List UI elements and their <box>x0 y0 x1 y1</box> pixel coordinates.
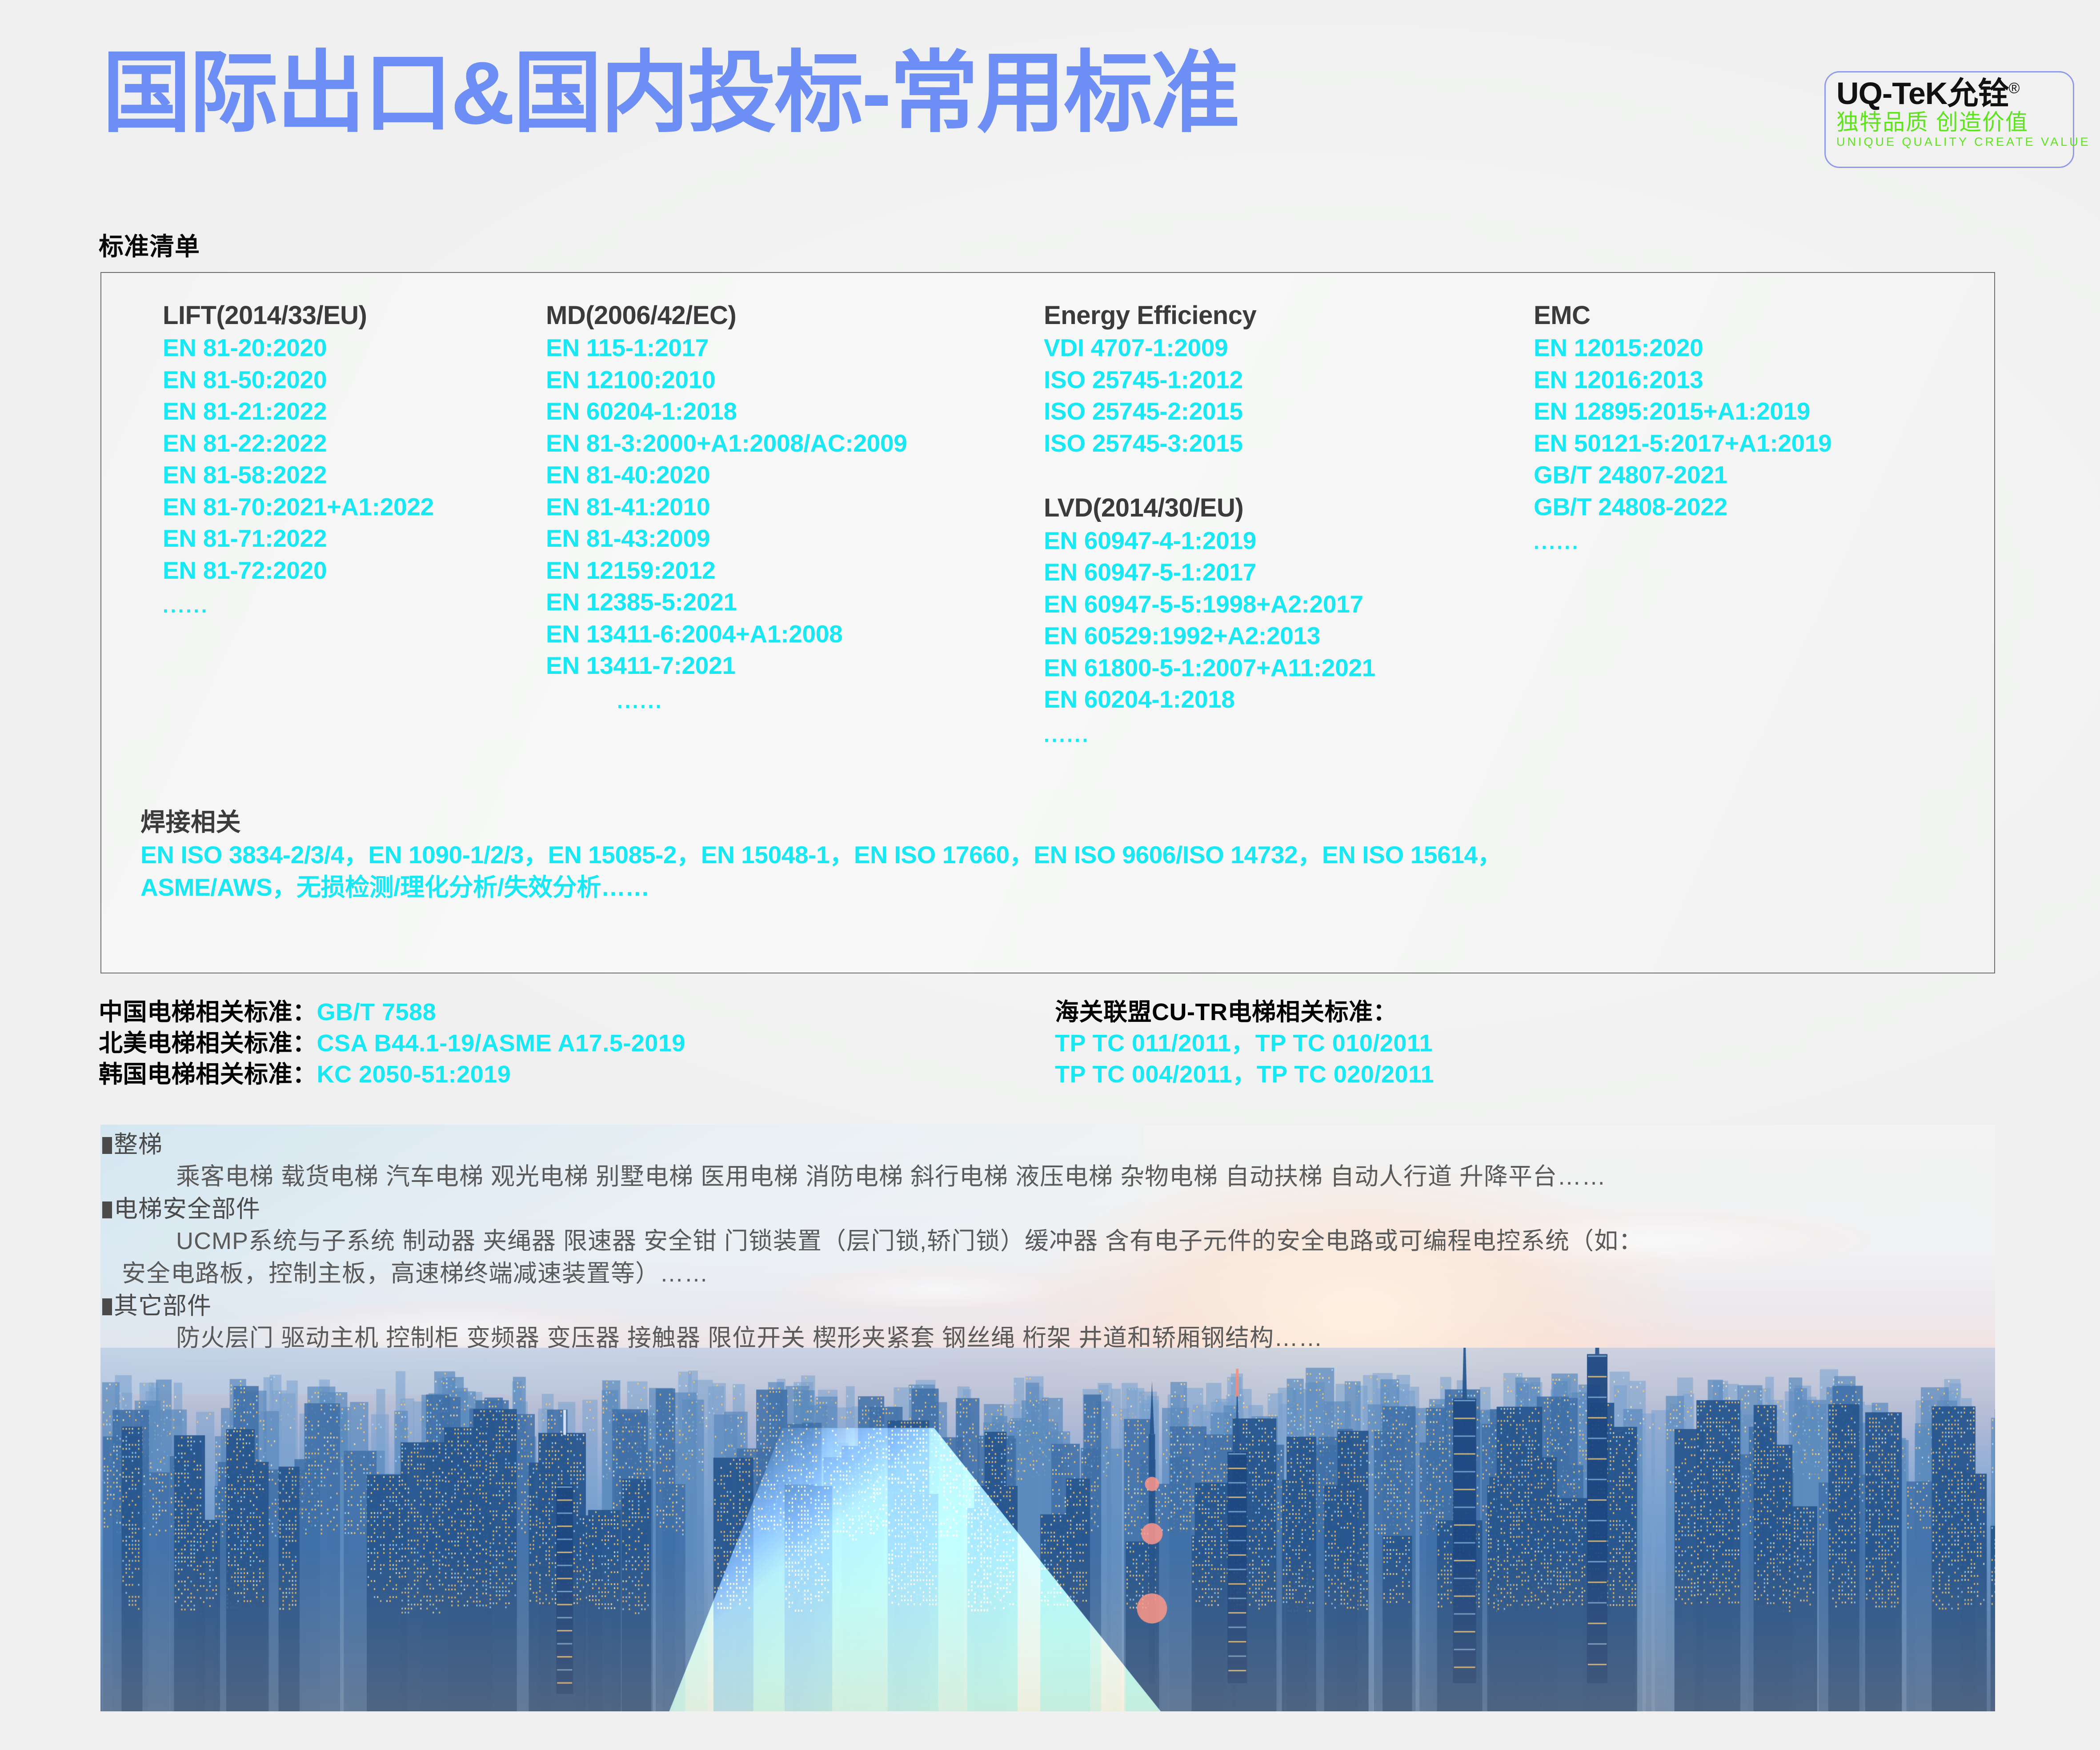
welding-heading: 焊接相关 <box>140 806 1963 839</box>
category-heading-lvd: LVD(2014/30/EU) <box>1044 491 1375 525</box>
category-heading-emc: EMC <box>1534 299 1831 332</box>
standards-column-md: MD(2006/42/EC) EN 115-1:2017 EN 12100:20… <box>546 299 907 720</box>
cu-tr-value-row: TP TC 004/2011，TP TC 020/2011 <box>1055 1059 1434 1090</box>
more-indicator: ······ <box>163 598 434 625</box>
standard-item: EN 12385-5:2021 <box>546 586 907 618</box>
standard-item: EN 12015:2020 <box>1534 332 1831 364</box>
logo-slogan-cn: 独特品质 创造价值 <box>1836 110 2064 136</box>
bullet-content: UCMP系统与子系统 制动器 夹绳器 限速器 安全钳 门锁装置（层门锁,轿门锁）… <box>100 1225 1995 1257</box>
standard-item: ISO 25745-1:2012 <box>1044 364 1375 396</box>
company-logo: UQ-TeK允铨® 独特品质 创造价值 UNIQUE QUALITY CREAT… <box>1824 71 2074 168</box>
more-indicator: ······ <box>1044 727 1375 754</box>
cu-tr-label-row: 海关联盟CU-TR电梯相关标准： <box>1055 997 1434 1028</box>
category-heading-lift: LIFT(2014/33/EU) <box>163 299 434 332</box>
standards-column-lift: LIFT(2014/33/EU) EN 81-20:2020 EN 81-50:… <box>163 299 434 625</box>
standard-item: EN 13411-7:2021 <box>546 650 907 682</box>
country-standard-value: KC 2050-51:2019 <box>317 1061 511 1088</box>
standard-item: EN 81-50:2020 <box>163 364 434 396</box>
standard-item: EN 12016:2013 <box>1534 364 1831 396</box>
standard-item: EN 60204-1:2018 <box>546 396 907 428</box>
country-standard-label: 中国电梯相关标准： <box>99 999 317 1025</box>
component-categories: 整梯 乘客电梯 载货电梯 汽车电梯 观光电梯 别墅电梯 医用电梯 消防电梯 斜行… <box>100 1125 1995 1355</box>
standard-item: EN 115-1:2017 <box>546 332 907 364</box>
standard-item: EN 60529:1992+A2:2013 <box>1044 620 1375 652</box>
bullet-heading-text: 电梯安全部件 <box>114 1196 260 1222</box>
country-standard-row: 韩国电梯相关标准：KC 2050-51:2019 <box>99 1059 685 1090</box>
standard-item: EN 81-43:2009 <box>546 523 907 555</box>
country-standard-row: 中国电梯相关标准：GB/T 7588 <box>99 997 685 1028</box>
logo-slogan-en: UNIQUE QUALITY CREATE VALUE <box>1836 136 2064 149</box>
standard-item: EN 60947-4-1:2019 <box>1044 525 1375 557</box>
country-standard-value: GB/T 7588 <box>317 999 437 1025</box>
standard-item: EN 12100:2010 <box>546 364 907 396</box>
standard-item: EN 61800-5-1:2007+A11:2021 <box>1044 652 1375 684</box>
standard-item: EN 81-72:2020 <box>163 555 434 587</box>
standards-column-emc: EMC EN 12015:2020 EN 12016:2013 EN 12895… <box>1534 299 1831 561</box>
standard-item: EN 60947-5-1:2017 <box>1044 557 1375 589</box>
standard-item: EN 81-41:2010 <box>546 491 907 523</box>
page-title: 国际出口&国内投标-常用标准 <box>102 47 1238 140</box>
city-canvas <box>100 1348 1995 1711</box>
standard-item: EN 13411-6:2004+A1:2008 <box>546 618 907 650</box>
standard-item: EN 81-3:2000+A1:2008/AC:2009 <box>546 428 907 460</box>
standard-item: VDI 4707-1:2009 <box>1044 332 1375 364</box>
country-standards-left: 中国电梯相关标准：GB/T 7588 北美电梯相关标准：CSA B44.1-19… <box>99 997 685 1090</box>
country-standard-label: 韩国电梯相关标准： <box>99 1061 317 1088</box>
standard-item: EN 81-70:2021+A1:2022 <box>163 491 434 523</box>
category-heading-md: MD(2006/42/EC) <box>546 299 907 332</box>
cu-tr-value: TP TC 004/2011，TP TC 020/2011 <box>1055 1061 1434 1088</box>
standards-column-energy-lvd: Energy Efficiency VDI 4707-1:2009 ISO 25… <box>1044 299 1375 754</box>
bullet-heading-text: 整梯 <box>114 1131 163 1158</box>
standard-item: EN 12159:2012 <box>546 555 907 587</box>
standards-panel: LIFT(2014/33/EU) EN 81-20:2020 EN 81-50:… <box>100 272 1995 973</box>
standard-item: EN 12895:2015+A1:2019 <box>1534 396 1831 428</box>
bullet-square-icon <box>102 1137 112 1154</box>
standard-item: EN 50121-5:2017+A1:2019 <box>1534 428 1831 460</box>
welding-standards-line-1: EN ISO 3834-2/3/4，EN 1090-1/2/3，EN 15085… <box>140 839 1963 871</box>
bullet-heading-text: 其它部件 <box>114 1293 212 1319</box>
bullet-square-icon <box>102 1201 112 1218</box>
city-buildings <box>100 1348 1995 1711</box>
bullet-content: 防火层门 驱动主机 控制柜 变频器 变压器 接触器 限位开关 楔形夹紧套 钢丝绳… <box>100 1322 1995 1354</box>
city-skyline-photo: 整梯 乘客电梯 载货电梯 汽车电梯 观光电梯 别墅电梯 医用电梯 消防电梯 斜行… <box>100 1125 1995 1711</box>
standard-item: ISO 25745-2:2015 <box>1044 396 1375 428</box>
standard-item: ISO 25745-3:2015 <box>1044 428 1375 460</box>
standard-item: EN 81-71:2022 <box>163 523 434 555</box>
standard-item: GB/T 24808-2022 <box>1534 491 1831 523</box>
country-standard-row: 北美电梯相关标准：CSA B44.1-19/ASME A17.5-2019 <box>99 1028 685 1059</box>
standard-item: EN 81-21:2022 <box>163 396 434 428</box>
standards-list-label: 标准清单 <box>99 227 200 263</box>
bullet-content: 乘客电梯 载货电梯 汽车电梯 观光电梯 别墅电梯 医用电梯 消防电梯 斜行电梯 … <box>100 1161 1995 1193</box>
bullet-heading-whole-elevator: 整梯 <box>100 1129 1995 1161</box>
standard-item: EN 81-40:2020 <box>546 459 907 491</box>
welding-section: 焊接相关 EN ISO 3834-2/3/4，EN 1090-1/2/3，EN … <box>140 806 1963 904</box>
bullet-content: 安全电路板，控制主板，高速梯终端减速装置等）…… <box>100 1257 1995 1290</box>
logo-brand-name: UQ-TeK允铨® <box>1836 78 2064 109</box>
bullet-heading-safety-components: 电梯安全部件 <box>100 1193 1995 1225</box>
bullet-heading-other-components: 其它部件 <box>100 1290 1995 1322</box>
standard-item: EN 81-58:2022 <box>163 459 434 491</box>
bullet-square-icon <box>102 1298 112 1315</box>
standard-item: EN 81-20:2020 <box>163 332 434 364</box>
category-heading-energy-efficiency: Energy Efficiency <box>1044 299 1375 332</box>
slide-root: 国际出口&国内投标-常用标准 UQ-TeK允铨® 独特品质 创造价值 UNIQU… <box>0 0 2100 1750</box>
standard-item: EN 81-22:2022 <box>163 428 434 460</box>
standard-item: EN 60947-5-5:1998+A2:2017 <box>1044 589 1375 621</box>
standard-item: GB/T 24807-2021 <box>1534 459 1831 491</box>
registered-trademark-icon: ® <box>2008 80 2019 97</box>
cu-tr-label: 海关联盟CU-TR电梯相关标准： <box>1055 999 1397 1025</box>
country-standards-right: 海关联盟CU-TR电梯相关标准： TP TC 011/2011，TP TC 01… <box>1055 997 1434 1090</box>
more-indicator: ······ <box>617 693 907 720</box>
standard-item: EN 60204-1:2018 <box>1044 684 1375 716</box>
cu-tr-value-row: TP TC 011/2011，TP TC 010/2011 <box>1055 1028 1434 1059</box>
cu-tr-value: TP TC 011/2011，TP TC 010/2011 <box>1055 1030 1433 1057</box>
more-indicator: ······ <box>1534 534 1831 561</box>
welding-standards-line-2: ASME/AWS，无损检测/理化分析/失效分析…… <box>140 871 1963 904</box>
country-standard-label: 北美电梯相关标准： <box>99 1030 317 1057</box>
country-standard-value: CSA B44.1-19/ASME A17.5-2019 <box>317 1030 685 1057</box>
logo-brand-text: UQ-TeK允铨 <box>1836 76 2008 111</box>
